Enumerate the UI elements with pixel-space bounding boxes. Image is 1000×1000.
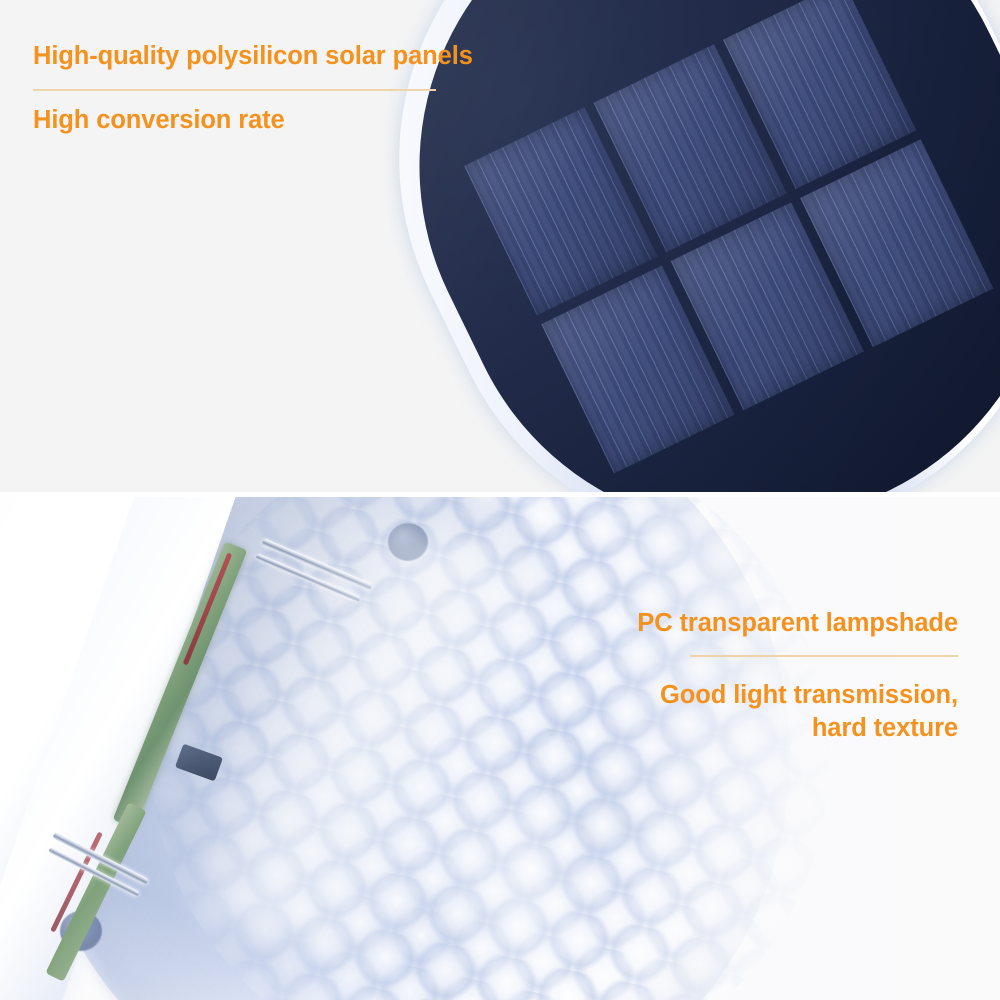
lampshade-feature-subline-line-2: hard texture [528,712,958,745]
solar-feature-text-block: High-quality polysilicon solar panels Hi… [33,40,553,137]
lampshade-feature-divider [690,655,958,657]
panel-seam [0,492,1000,497]
solar-feature-subline: High conversion rate [33,104,553,137]
solar-feature-headline: High-quality polysilicon solar panels [33,40,553,73]
solar-feature-divider [33,89,436,91]
lampshade-feature-panel: PC transparent lampshade Good light tran… [0,497,1000,1000]
pc-lampshade-bottom-photo [0,497,1000,1000]
lampshade-feature-text-block: PC transparent lampshade Good light tran… [528,607,958,745]
lampshade-feature-headline: PC transparent lampshade [528,607,958,640]
screw-recess [388,523,428,561]
solar-panel-feature-panel: High-quality polysilicon solar panels Hi… [0,0,1000,492]
lampshade-feature-subline-line-1: Good light transmission, [528,679,958,712]
product-feature-page: High-quality polysilicon solar panels Hi… [0,0,1000,1000]
